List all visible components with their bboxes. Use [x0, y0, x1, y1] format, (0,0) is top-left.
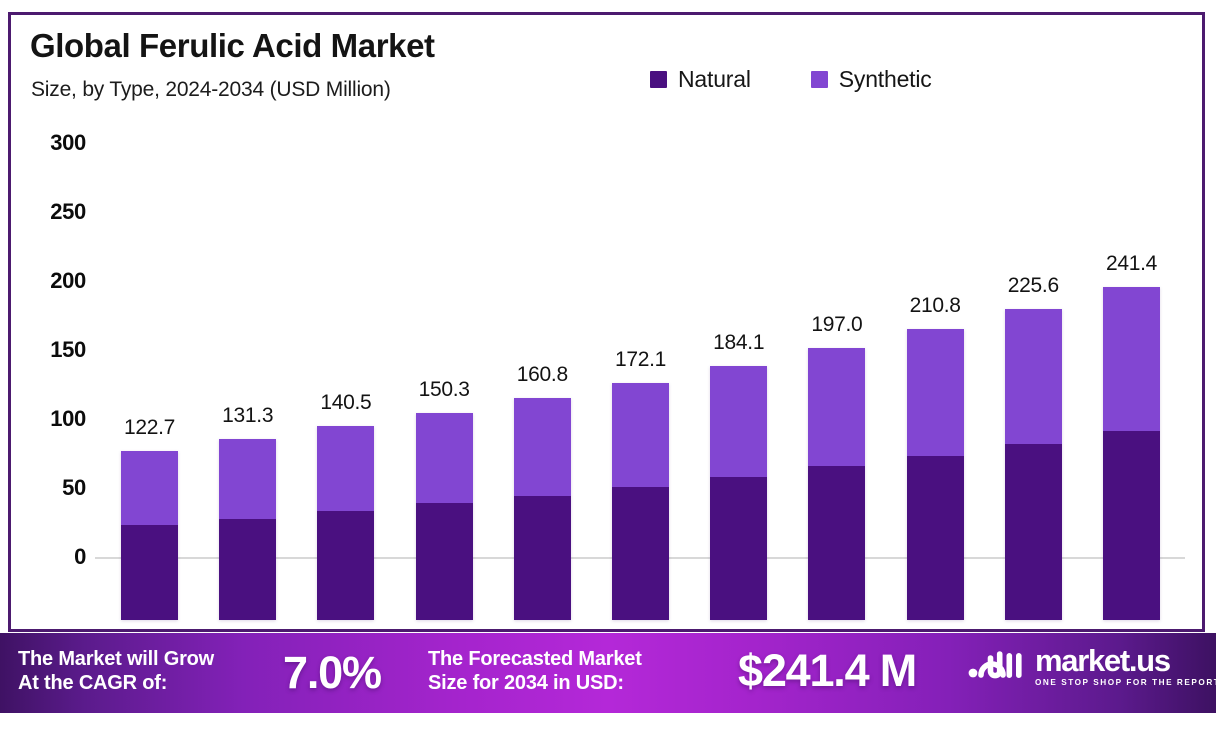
- bar-group: 160.82028: [514, 63, 571, 620]
- market-us-logo[interactable]: market.us ONE STOP SHOP FOR THE REPORTS: [968, 645, 1216, 687]
- logo-wordmark: market.us ONE STOP SHOP FOR THE REPORTS: [1035, 645, 1216, 687]
- bar-segment-natural[interactable]: [219, 519, 276, 620]
- forecast-caption-line1: The Forecasted Market: [428, 647, 642, 671]
- bar-value-label: 172.1: [586, 348, 695, 372]
- y-axis-tick-label: 300: [0, 130, 86, 156]
- market-us-mark-icon: [968, 647, 1026, 686]
- bar-group: 210.82032: [907, 63, 964, 620]
- bar-segment-synthetic[interactable]: [710, 366, 767, 477]
- stacked-bar-2027[interactable]: [416, 413, 473, 620]
- bar-group: 241.42034: [1103, 63, 1160, 620]
- stacked-bar-2028[interactable]: [514, 398, 571, 620]
- bar-segment-synthetic[interactable]: [907, 329, 964, 456]
- bar-segment-natural[interactable]: [710, 477, 767, 620]
- chart-infographic: Global Ferulic Acid Market Size, by Type…: [0, 0, 1216, 732]
- y-axis-tick-label: 200: [0, 268, 86, 294]
- stacked-bar-2033[interactable]: [1005, 309, 1062, 620]
- stacked-bar-2024[interactable]: [121, 451, 178, 620]
- y-axis-tick-label: 0: [0, 544, 86, 570]
- bar-group: 140.52026: [317, 63, 374, 620]
- bar-value-label: 210.8: [881, 294, 990, 318]
- bar-value-label: 160.8: [488, 363, 597, 387]
- bar-segment-synthetic[interactable]: [121, 451, 178, 525]
- chart-plot-area: 050100150200250300122.72024131.32025140.…: [0, 0, 1216, 620]
- stacked-bar-2026[interactable]: [317, 426, 374, 620]
- stacked-bar-2025[interactable]: [219, 439, 276, 620]
- forecast-caption-line2: Size for 2034 in USD:: [428, 671, 642, 695]
- bar-segment-synthetic[interactable]: [1103, 287, 1160, 431]
- bar-value-label: 184.1: [684, 331, 793, 355]
- stacked-bar-2029[interactable]: [612, 383, 669, 620]
- stacked-bar-2031[interactable]: [808, 348, 865, 620]
- y-axis-tick-label: 150: [0, 337, 86, 363]
- bar-group: 122.72024: [121, 63, 178, 620]
- bar-value-label: 140.5: [291, 391, 400, 415]
- y-axis-tick-label: 50: [0, 475, 86, 501]
- stacked-bar-2034[interactable]: [1103, 287, 1160, 620]
- bar-segment-natural[interactable]: [907, 456, 964, 620]
- bar-segment-synthetic[interactable]: [219, 439, 276, 519]
- bar-group: 184.12030: [710, 63, 767, 620]
- logo-tagline: ONE STOP SHOP FOR THE REPORTS: [1035, 678, 1216, 687]
- cagr-caption: The Market will Grow At the CAGR of:: [18, 647, 214, 695]
- bar-segment-natural[interactable]: [1005, 444, 1062, 620]
- cagr-value: 7.0%: [283, 647, 381, 699]
- bar-segment-natural[interactable]: [612, 487, 669, 620]
- bar-segment-synthetic[interactable]: [317, 426, 374, 511]
- bar-segment-synthetic[interactable]: [514, 398, 571, 495]
- bar-segment-natural[interactable]: [514, 496, 571, 620]
- y-axis-tick-label: 250: [0, 199, 86, 225]
- bar-value-label: 150.3: [390, 378, 499, 402]
- stacked-bar-2030[interactable]: [710, 366, 767, 620]
- bar-value-label: 225.6: [979, 274, 1088, 298]
- bar-group: 150.32027: [416, 63, 473, 620]
- bar-group: 172.12029: [612, 63, 669, 620]
- logo-name: market.us: [1035, 645, 1216, 676]
- stacked-bar-2032[interactable]: [907, 329, 964, 620]
- bar-segment-synthetic[interactable]: [416, 413, 473, 504]
- bar-group: 197.02031: [808, 63, 865, 620]
- bar-group: 131.32025: [219, 63, 276, 620]
- y-axis-tick-label: 100: [0, 406, 86, 432]
- bar-group: 225.62033: [1005, 63, 1062, 620]
- bar-value-label: 122.7: [95, 416, 204, 440]
- bar-segment-natural[interactable]: [416, 503, 473, 620]
- bar-value-label: 131.3: [193, 404, 302, 428]
- cagr-caption-line2: At the CAGR of:: [18, 671, 214, 695]
- bar-segment-natural[interactable]: [1103, 431, 1160, 620]
- forecast-caption: The Forecasted Market Size for 2034 in U…: [428, 647, 642, 695]
- bar-segment-natural[interactable]: [808, 466, 865, 620]
- bar-segment-synthetic[interactable]: [808, 348, 865, 466]
- bar-value-label: 241.4: [1077, 252, 1186, 276]
- cagr-caption-line1: The Market will Grow: [18, 647, 214, 671]
- bar-segment-synthetic[interactable]: [1005, 309, 1062, 444]
- bar-segment-synthetic[interactable]: [612, 383, 669, 487]
- bar-segment-natural[interactable]: [317, 511, 374, 620]
- bar-segment-natural[interactable]: [121, 525, 178, 620]
- forecast-value: $241.4 M: [738, 645, 916, 697]
- bar-value-label: 197.0: [782, 313, 891, 337]
